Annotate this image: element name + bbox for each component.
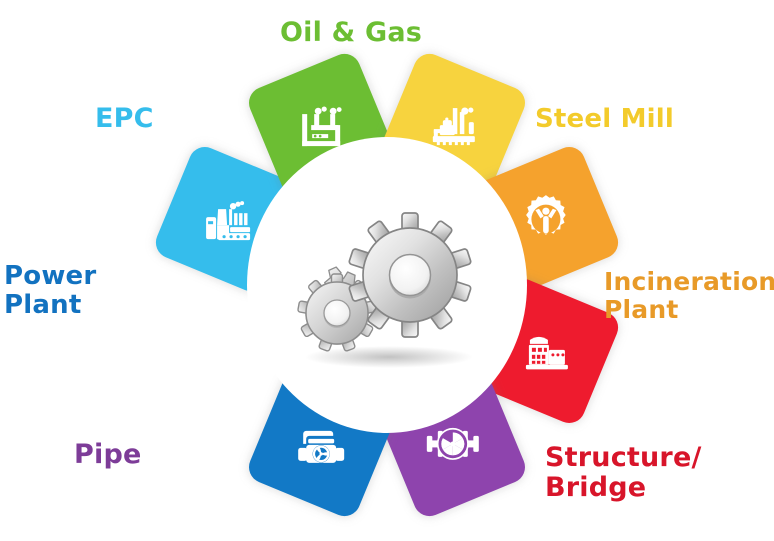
diagram-canvas: Oil & Gas Steel Mill Incineration Plant …: [0, 0, 774, 541]
label-structure-bridge: Structure/ Bridge: [545, 443, 702, 503]
gear-worker-icon: [516, 189, 576, 249]
label-power-plant: Power Plant: [4, 262, 96, 320]
two-gears-icon: [277, 195, 497, 385]
label-pipe: Pipe: [74, 440, 141, 470]
industrial-building-icon: [516, 321, 576, 381]
factory-plant-icon: [198, 189, 258, 249]
label-incineration-plant: Incineration Plant: [604, 268, 774, 324]
label-epc: EPC: [95, 104, 154, 134]
label-oil-gas: Oil & Gas: [280, 18, 422, 48]
label-steel-mill: Steel Mill: [535, 105, 674, 134]
